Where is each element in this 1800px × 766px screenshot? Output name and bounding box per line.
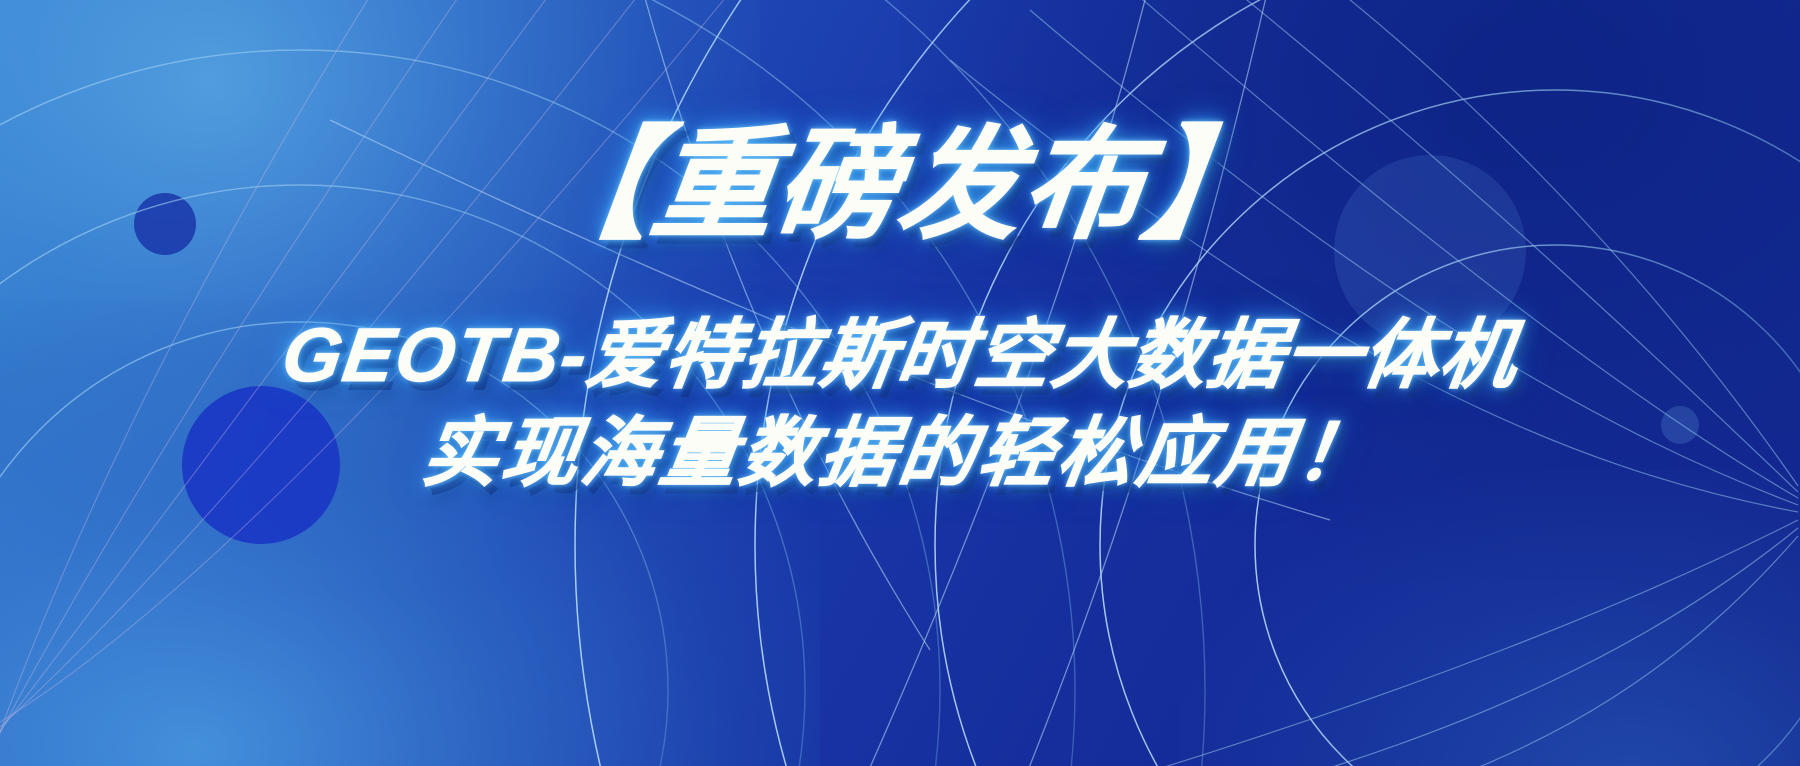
- subtitle-group: GEOTB-爱特拉斯时空大数据一体机 实现海量数据的轻松应用！: [283, 318, 1518, 492]
- page-title: 【重磅发布】: [523, 124, 1277, 246]
- banner-text-block: 【重磅发布】 GEOTB-爱特拉斯时空大数据一体机 实现海量数据的轻松应用！: [0, 0, 1800, 766]
- subtitle-line-tagline: 实现海量数据的轻松应用！: [418, 416, 1382, 492]
- promo-banner: 【重磅发布】 GEOTB-爱特拉斯时空大数据一体机 实现海量数据的轻松应用！: [0, 0, 1800, 766]
- subtitle-line-product: GEOTB-爱特拉斯时空大数据一体机: [277, 318, 1523, 394]
